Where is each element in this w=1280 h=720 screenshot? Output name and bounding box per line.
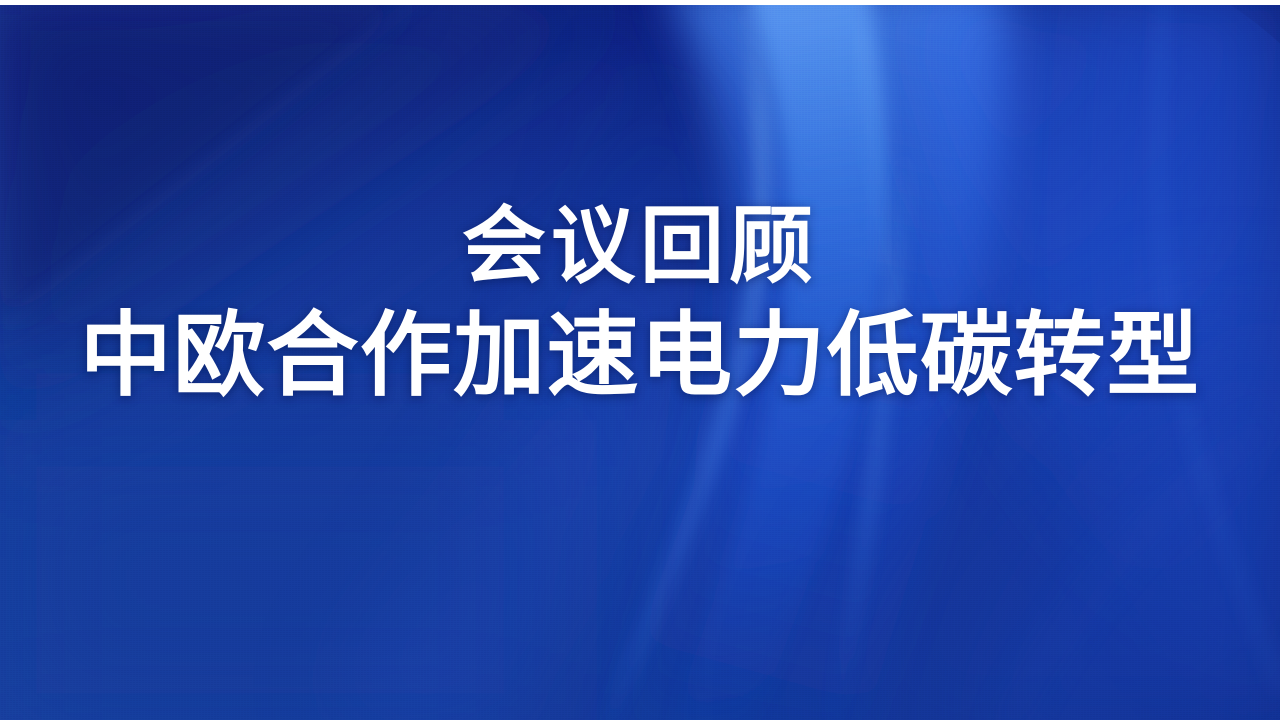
- title-slide: 会议回顾 中欧合作加速电力低碳转型: [0, 0, 1280, 720]
- title-line-primary: 会议回顾: [0, 196, 1280, 300]
- title-line-secondary: 中欧合作加速电力低碳转型: [0, 300, 1280, 412]
- top-white-strip: [0, 0, 1280, 5]
- slide-title-block: 会议回顾 中欧合作加速电力低碳转型: [0, 196, 1280, 412]
